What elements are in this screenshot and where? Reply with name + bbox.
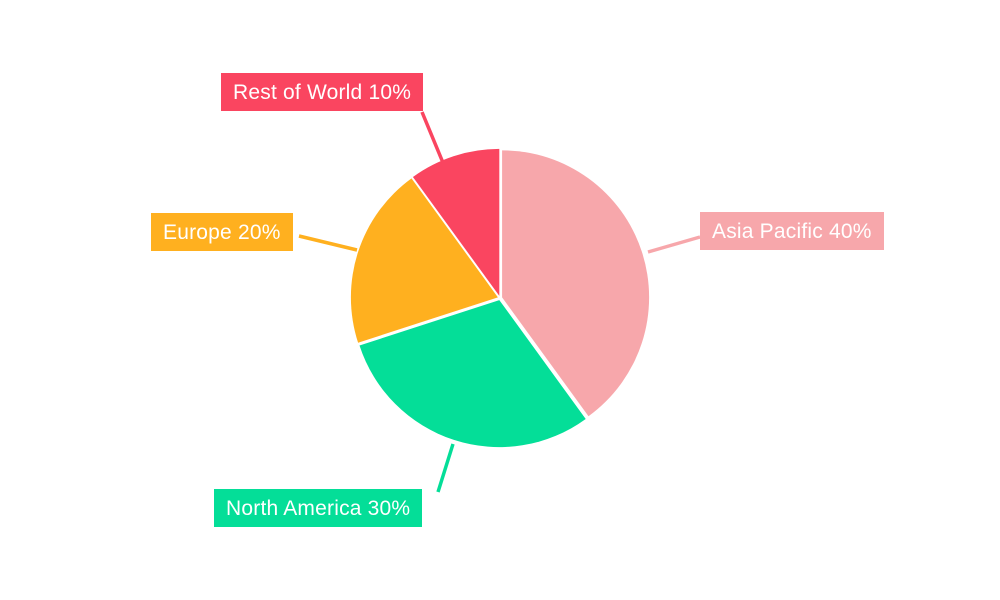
pie-chart-svg (0, 0, 1000, 600)
pie-slices (351, 149, 649, 447)
pie-label-europe[interactable]: Europe 20% (151, 213, 293, 251)
pie-label-europe-text: Europe 20% (163, 222, 281, 243)
pie-label-asia-pacific-text: Asia Pacific 40% (712, 221, 872, 242)
leader-line-north-america (438, 444, 453, 492)
pie-label-asia-pacific[interactable]: Asia Pacific 40% (700, 212, 884, 250)
leader-line-europe (299, 236, 357, 250)
pie-label-north-america[interactable]: North America 30% (214, 489, 422, 527)
pie-label-north-america-text: North America 30% (226, 498, 410, 519)
leader-line-asia-pacific (648, 237, 700, 252)
pie-label-rest-of-world[interactable]: Rest of World 10% (221, 73, 423, 111)
pie-chart-canvas: Asia Pacific 40% North America 30% Europ… (0, 0, 1000, 600)
pie-label-rest-of-world-text: Rest of World 10% (233, 82, 411, 103)
